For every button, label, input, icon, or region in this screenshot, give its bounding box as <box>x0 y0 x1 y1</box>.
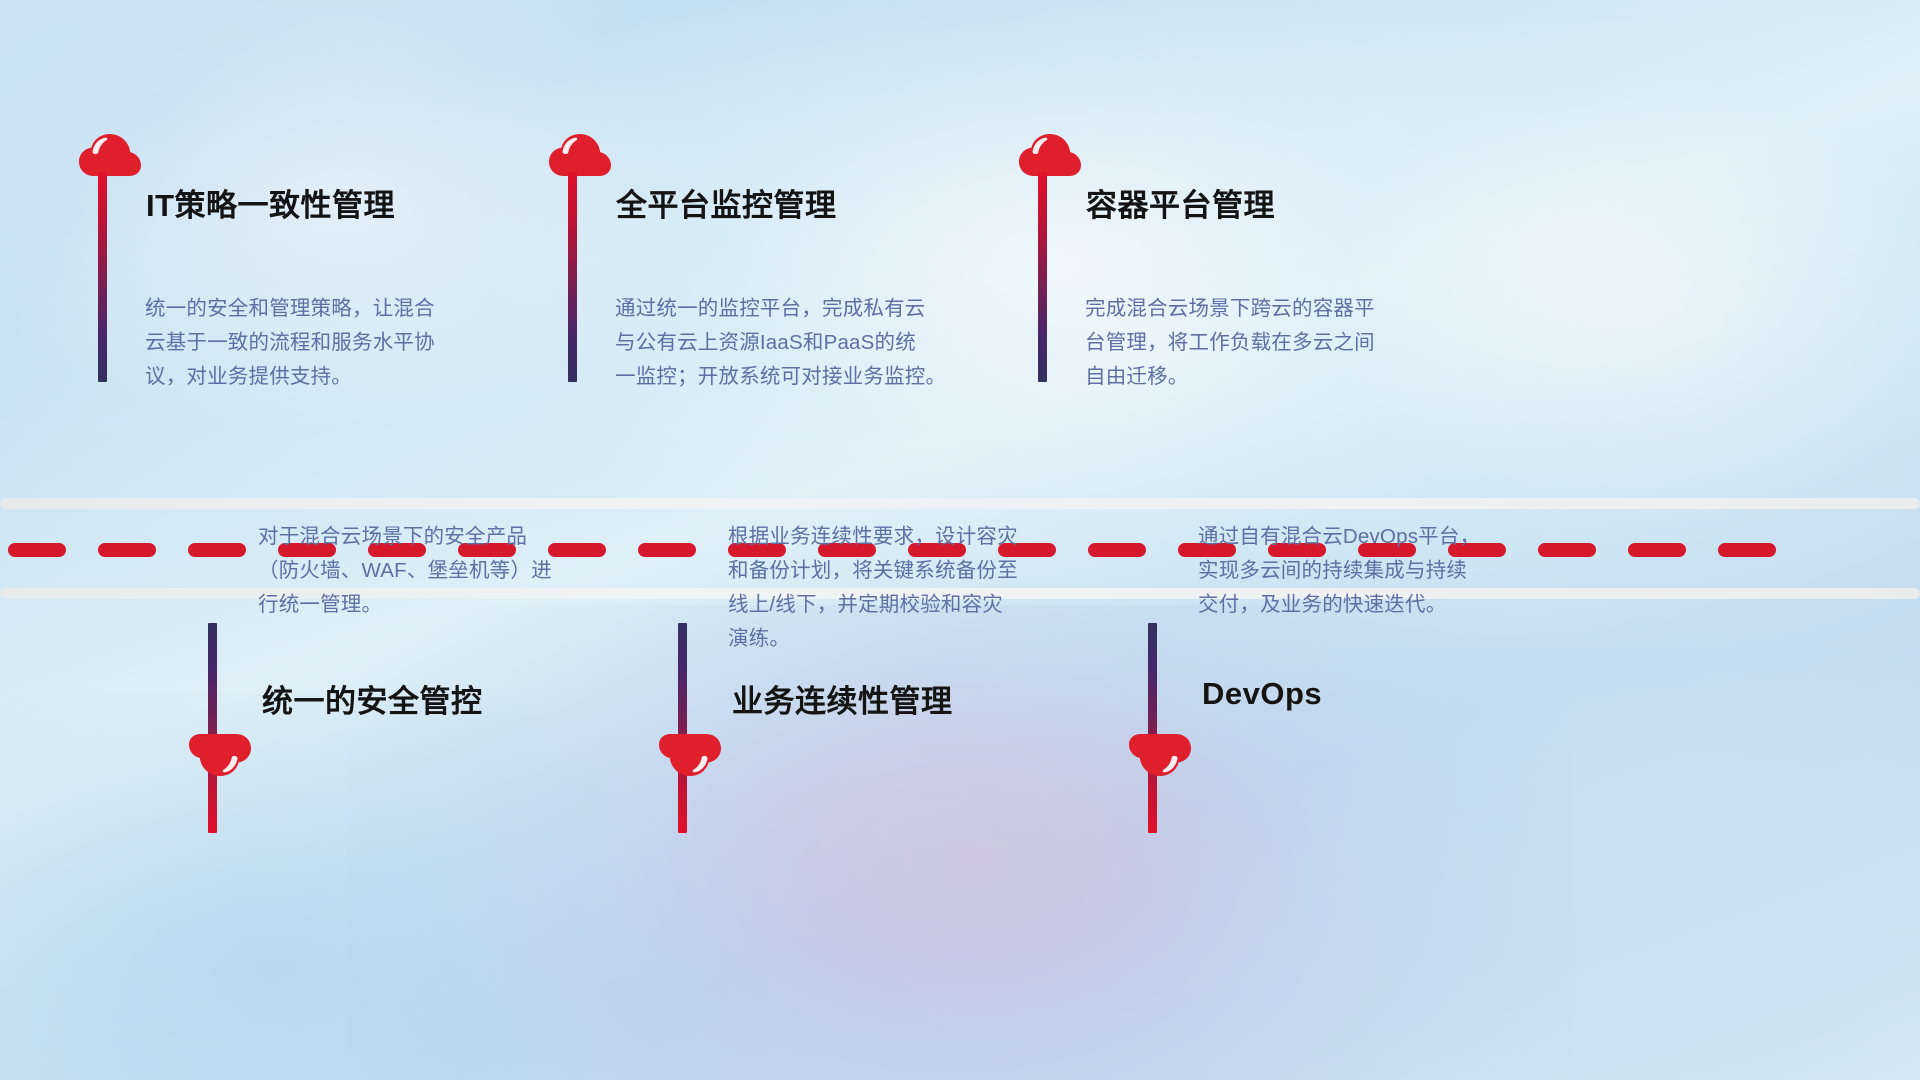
connector-stem <box>1038 172 1047 382</box>
feature-heading-business-continuity: 业务连续性管理 <box>732 676 953 721</box>
feature-heading-container-platform: 容器平台管理 <box>1086 180 1275 225</box>
feature-body-devops: 通过自有混合云DevOps平台， 实现多云间的持续集成与持续 交付，及业务的快速… <box>1198 520 1588 622</box>
cloud-icon <box>658 733 722 777</box>
dash-segment <box>188 543 246 557</box>
cloud-icon <box>548 133 612 177</box>
dash-segment <box>638 543 696 557</box>
feature-heading-platform-monitoring: 全平台监控管理 <box>616 180 837 225</box>
connector-stem <box>1148 623 1157 833</box>
connector-stem <box>678 623 687 833</box>
feature-body-container-platform: 完成混合云场景下跨云的容器平 台管理，将工作负载在多云之间 自由迁移。 <box>1085 292 1475 394</box>
feature-body-platform-monitoring: 通过统一的监控平台，完成私有云 与公有云上资源IaaS和PaaS的统 一监控；开… <box>615 292 1015 394</box>
connector-stem <box>208 623 217 833</box>
feature-heading-it-policy: IT策略一致性管理 <box>146 180 395 225</box>
dash-segment <box>98 543 156 557</box>
divider-rule-top <box>0 498 1920 509</box>
feature-heading-unified-security: 统一的安全管控 <box>262 676 483 721</box>
dash-segment <box>1718 543 1776 557</box>
dash-segment <box>1628 543 1686 557</box>
feature-heading-devops: DevOps <box>1202 676 1322 712</box>
dash-segment <box>8 543 66 557</box>
cloud-icon <box>78 133 142 177</box>
feature-body-unified-security: 对于混合云场景下的安全产品 （防火墙、WAF、堡垒机等）进 行统一管理。 <box>258 520 638 622</box>
connector-stem <box>568 172 577 382</box>
cloud-icon <box>1128 733 1192 777</box>
cloud-icon <box>1018 133 1082 177</box>
connector-stem <box>98 172 107 382</box>
cloud-icon <box>188 733 252 777</box>
feature-body-it-policy: 统一的安全和管理策略，让混合 云基于一致的流程和服务水平协 议，对业务提供支持。 <box>145 292 525 394</box>
feature-body-business-continuity: 根据业务连续性要求，设计容灾 和备份计划，将关键系统备份至 线上/线下，并定期校… <box>728 520 1118 656</box>
